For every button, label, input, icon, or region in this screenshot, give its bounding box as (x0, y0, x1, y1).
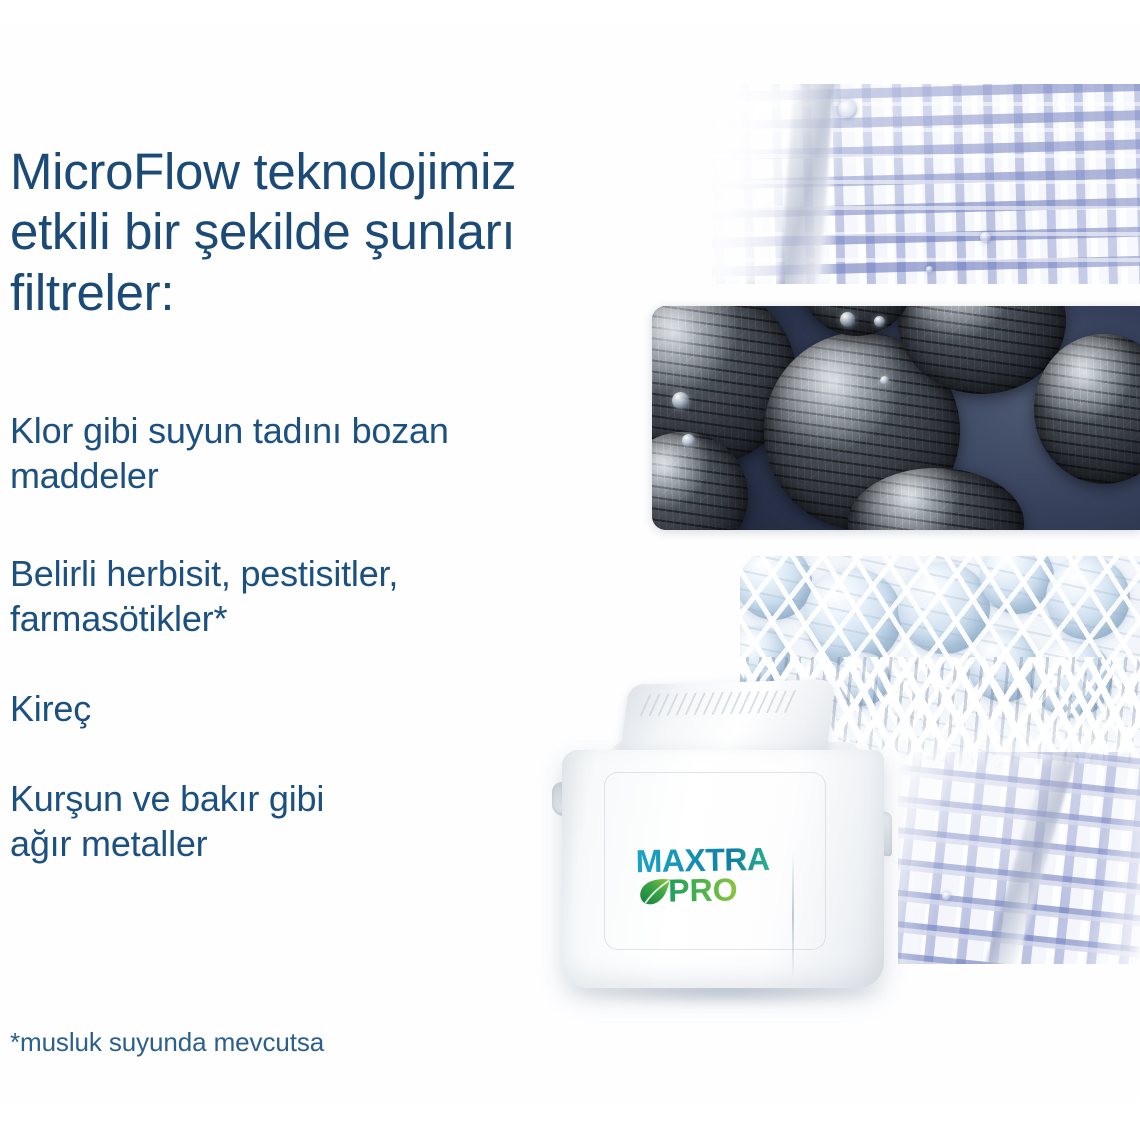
filter-benefit-item: Kurşun ve bakır gibi ağır metaller (10, 776, 480, 867)
filter-benefit-item: Belirli herbisit, pestisitler, farmasöti… (10, 551, 580, 642)
water-droplet-icon (840, 312, 855, 327)
water-bubble-icon (942, 892, 951, 901)
filter-benefit-item: Kireç (10, 686, 430, 731)
copy-column: MicroFlow teknolojimiz etkili bir şekild… (10, 0, 690, 1140)
panel-microfiltration-mesh-top (712, 84, 1140, 284)
water-droplet-icon (880, 376, 889, 385)
panel-microfiltration-mesh-bottom (898, 752, 1140, 964)
footnote: *musluk suyunda mevcutsa (10, 1026, 570, 1059)
water-bubble-icon (926, 266, 933, 273)
panel-activated-carbon-granules (652, 306, 1140, 530)
water-droplet-icon (874, 316, 885, 327)
promo-graphic: MAXTRA PRO MicroFlow teknolojimiz etkili… (0, 0, 1140, 1140)
page-title: MicroFlow teknolojimiz etkili bir şekild… (10, 142, 690, 323)
water-bubble-icon (838, 100, 857, 119)
filter-benefit-item: Klor gibi suyun tadını bozan maddeler (10, 408, 640, 499)
water-bubble-icon (980, 232, 991, 243)
cartridge-seam (792, 852, 794, 980)
